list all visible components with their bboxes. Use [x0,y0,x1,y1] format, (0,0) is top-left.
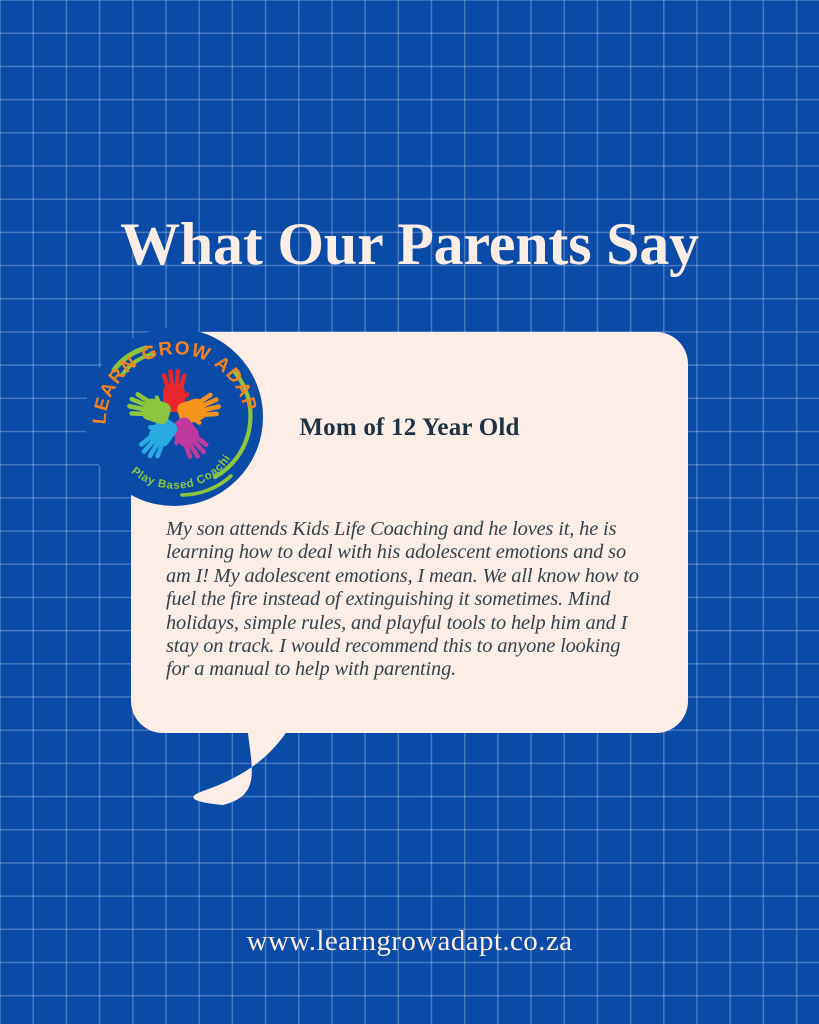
website-url: www.learngrowadapt.co.za [0,925,819,958]
testimonial-quote: My son attends Kids Life Coaching and he… [166,518,648,682]
testimonial-attribution: Mom of 12 Year Old [131,414,688,442]
testimonial-poster: What Our Parents Say LEARN GROW ADAPT [0,0,819,1024]
page-title: What Our Parents Say [0,214,819,274]
